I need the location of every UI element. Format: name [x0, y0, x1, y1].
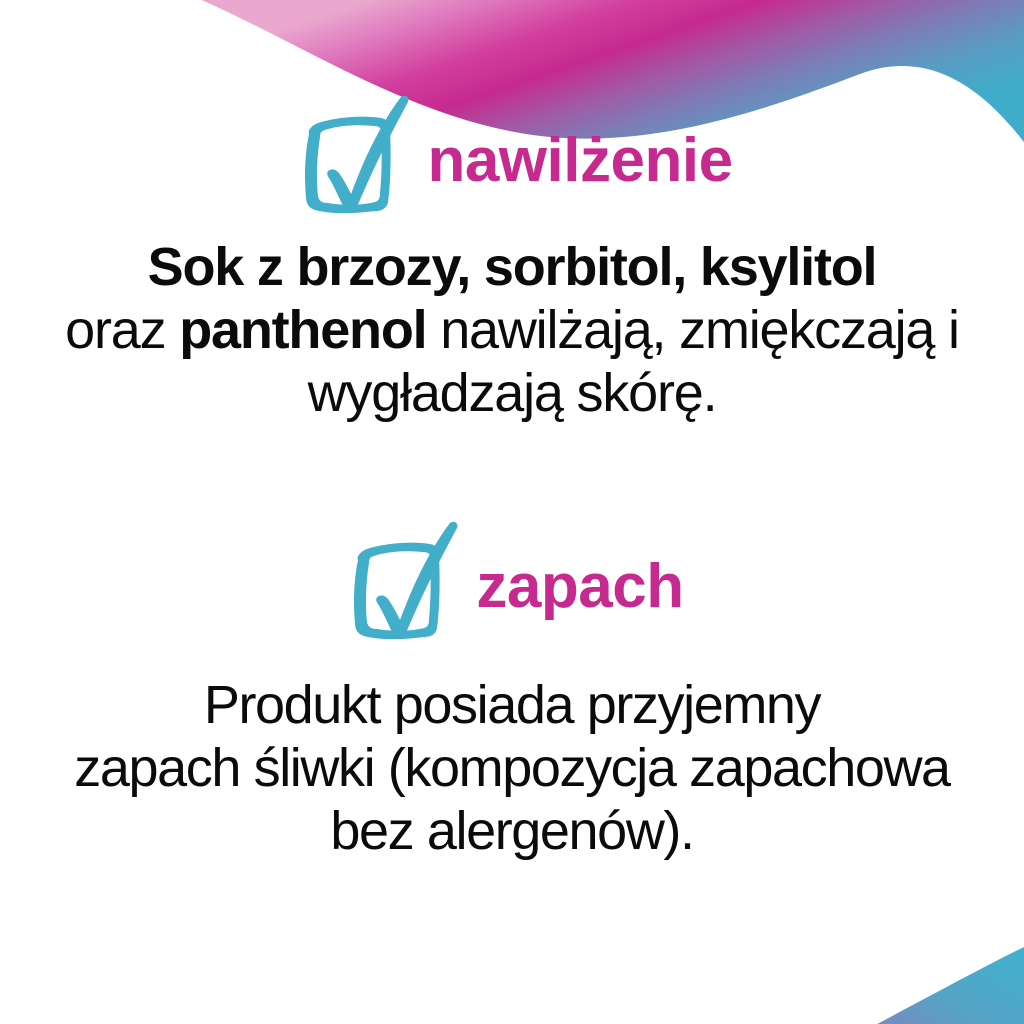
section-scent-title: zapach [476, 556, 683, 618]
section-hydration-body: Sok z brzozy, sorbitol, ksylitol oraz pa… [0, 236, 1024, 425]
infographic-canvas: nawilżenie Sok z brzozy, sorbitol, ksyli… [0, 0, 1024, 1024]
body-line: bez alergenów). [0, 800, 1024, 863]
body-line: Sok z brzozy, sorbitol, ksylitol [0, 236, 1024, 299]
section-hydration-header: nawilżenie [0, 96, 1024, 222]
body-text-segment-bold: panthenol [179, 300, 426, 360]
body-line: Produkt posiada przyjemny [0, 674, 1024, 737]
section-scent-header: zapach [0, 522, 1024, 648]
hand-drawn-checkbox-icon [291, 96, 413, 222]
section-scent-body: Produkt posiada przyjemny zapach śliwki … [0, 674, 1024, 863]
body-line: oraz panthenol nawilżają, zmiękczają i [0, 299, 1024, 362]
body-line: wygładzają skórę. [0, 362, 1024, 425]
section-scent: zapach Produkt posiada przyjemny zapach … [0, 522, 1024, 863]
hand-drawn-checkbox-icon [340, 522, 462, 648]
section-hydration-title: nawilżenie [427, 130, 732, 192]
body-text-segment: oraz [65, 300, 179, 360]
body-line: zapach śliwki (kompozycja zapachowa [0, 737, 1024, 800]
section-hydration: nawilżenie Sok z brzozy, sorbitol, ksyli… [0, 96, 1024, 425]
body-text-segment: nawilżają, zmiękczają i [426, 300, 958, 360]
